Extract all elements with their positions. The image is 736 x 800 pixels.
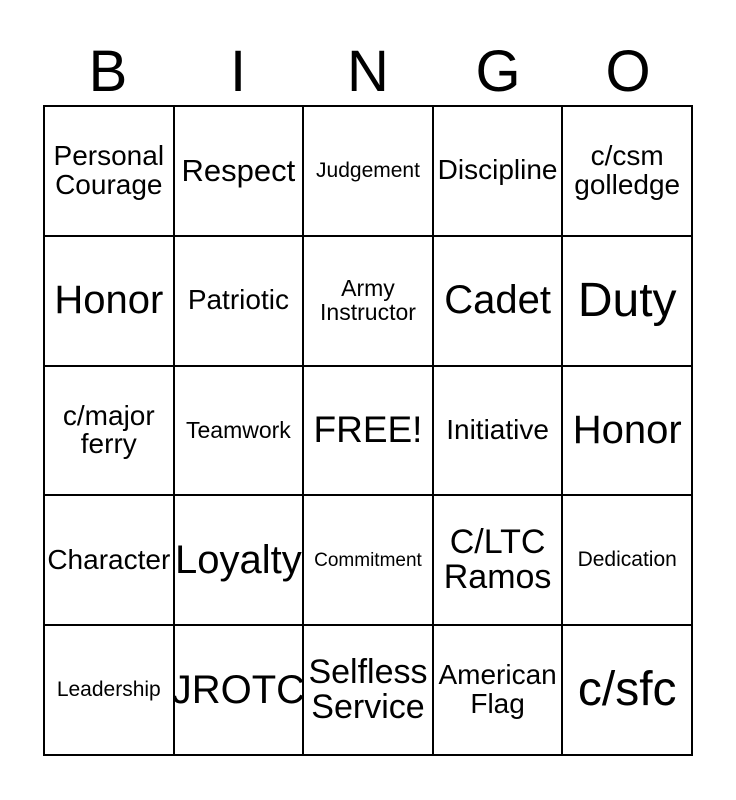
bingo-cell-g2[interactable]: Cadet	[434, 237, 564, 367]
bingo-cell-label: Teamwork	[186, 419, 291, 443]
bingo-card: B I N G O Personal Courage Respect Judge…	[0, 0, 736, 800]
bingo-cell-g3[interactable]: Initiative	[434, 367, 564, 497]
bingo-cell-label: Initiative	[446, 416, 549, 445]
bingo-cell-label: Honor	[573, 410, 682, 451]
bingo-cell-label: JROTC	[175, 670, 305, 711]
bingo-cell-i1[interactable]: Respect	[175, 107, 305, 237]
bingo-cell-n1[interactable]: Judgement	[304, 107, 434, 237]
bingo-cell-label: Cadet	[444, 280, 551, 321]
bingo-cell-o1[interactable]: c/csm golledge	[563, 107, 693, 237]
bingo-cell-label: c/csm golledge	[574, 142, 680, 200]
bingo-cell-g5[interactable]: American Flag	[434, 626, 564, 756]
bingo-cell-b1[interactable]: Personal Courage	[45, 107, 175, 237]
bingo-cell-label: Duty	[578, 276, 677, 325]
bingo-cell-label: c/major ferry	[63, 402, 155, 460]
bingo-cell-i4[interactable]: Loyalty	[175, 496, 305, 626]
bingo-cell-label: Respect	[182, 155, 296, 187]
bingo-cell-o4[interactable]: Dedication	[563, 496, 693, 626]
bingo-cell-label: Dedication	[578, 549, 677, 571]
bingo-cell-free-space[interactable]: FREE!	[304, 367, 434, 497]
bingo-cell-label: c/sfc	[578, 665, 677, 714]
bingo-cell-label: Patriotic	[188, 286, 289, 315]
bingo-cell-label: Discipline	[438, 156, 558, 185]
bingo-cell-label: Character	[47, 546, 170, 575]
header-letter-n: N	[303, 22, 433, 105]
bingo-cell-label: C/LTC Ramos	[444, 525, 552, 595]
header-letter-o: O	[563, 22, 693, 105]
header-letter-i: I	[173, 22, 303, 105]
bingo-cell-b2[interactable]: Honor	[45, 237, 175, 367]
bingo-cell-label: Army Instructor	[320, 277, 416, 324]
bingo-grid: Personal Courage Respect Judgement Disci…	[43, 105, 693, 756]
bingo-cell-label: Judgement	[316, 160, 420, 182]
bingo-cell-b4[interactable]: Character	[45, 496, 175, 626]
bingo-cell-o2[interactable]: Duty	[563, 237, 693, 367]
bingo-cell-n4[interactable]: Commitment	[304, 496, 434, 626]
bingo-cell-o3[interactable]: Honor	[563, 367, 693, 497]
bingo-cell-label: FREE!	[314, 411, 423, 449]
bingo-cell-i2[interactable]: Patriotic	[175, 237, 305, 367]
bingo-cell-label: Selfless Service	[308, 655, 427, 725]
bingo-cell-i3[interactable]: Teamwork	[175, 367, 305, 497]
bingo-header-row: B I N G O	[43, 22, 693, 105]
bingo-cell-label: Commitment	[314, 551, 422, 571]
bingo-cell-n5[interactable]: Selfless Service	[304, 626, 434, 756]
header-letter-g: G	[433, 22, 563, 105]
bingo-cell-b3[interactable]: c/major ferry	[45, 367, 175, 497]
bingo-cell-o5[interactable]: c/sfc	[563, 626, 693, 756]
bingo-cell-label: Loyalty	[175, 540, 302, 581]
bingo-cell-n2[interactable]: Army Instructor	[304, 237, 434, 367]
header-letter-b: B	[43, 22, 173, 105]
bingo-cell-label: Leadership	[57, 679, 161, 701]
bingo-cell-g4[interactable]: C/LTC Ramos	[434, 496, 564, 626]
bingo-cell-label: American Flag	[438, 661, 556, 719]
bingo-cell-label: Personal Courage	[54, 142, 165, 200]
bingo-cell-i5[interactable]: JROTC	[175, 626, 305, 756]
bingo-cell-label: Honor	[54, 280, 163, 321]
bingo-cell-b5[interactable]: Leadership	[45, 626, 175, 756]
bingo-cell-g1[interactable]: Discipline	[434, 107, 564, 237]
